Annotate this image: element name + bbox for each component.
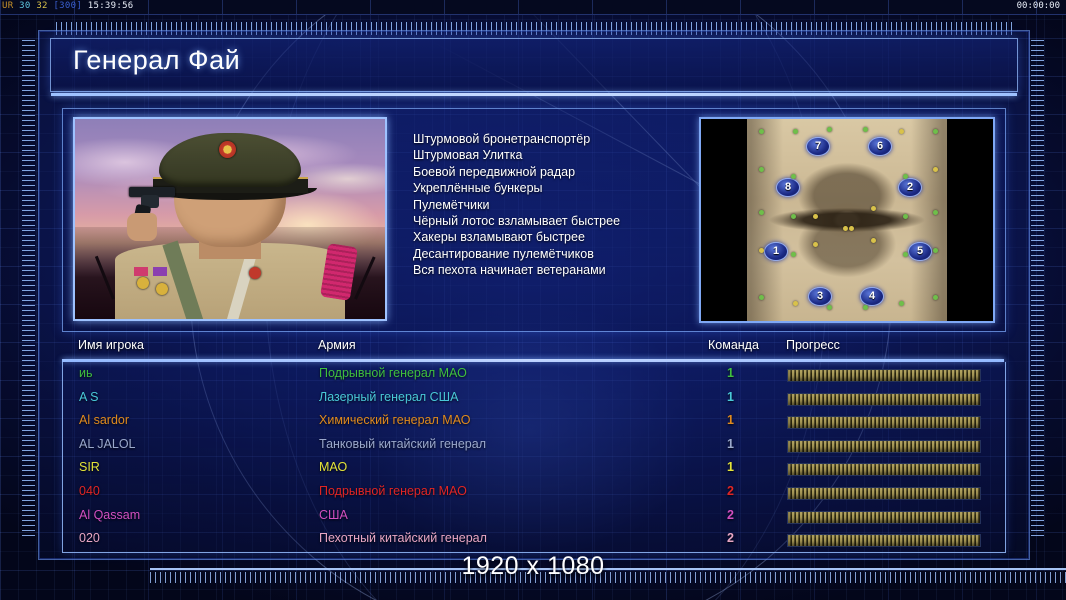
- minimap-resource-dot: [793, 301, 798, 306]
- minimap-resource-dot: [791, 252, 796, 257]
- title-underline: [51, 93, 1017, 96]
- hud-status-readout: UR 30 32 [300] 15:39:56: [2, 1, 134, 11]
- player-team: 2: [727, 484, 734, 498]
- minimap-resource-dot: [759, 210, 764, 215]
- player-table: Имя игрока Армия Команда Прогресс иьПодр…: [62, 338, 1004, 553]
- ability-item: Укреплённые бункеры: [413, 180, 713, 196]
- minimap-resource-dot: [933, 167, 938, 172]
- table-row[interactable]: SIRМАО1: [63, 457, 1005, 481]
- minimap-supply-dock: [843, 226, 848, 231]
- table-row[interactable]: 040Подрывной генерал МАО2: [63, 481, 1005, 505]
- player-army: Танковый китайский генерал: [319, 437, 486, 451]
- minimap-resource-dot: [933, 210, 938, 215]
- column-header-team: Команда: [708, 338, 759, 352]
- minimap-spawn-3[interactable]: 3: [808, 287, 832, 306]
- table-row[interactable]: Al QassamСША2: [63, 505, 1005, 529]
- player-progress-bar: [787, 463, 981, 476]
- player-name: иь: [79, 366, 93, 380]
- general-portrait: [73, 117, 387, 321]
- player-army: США: [319, 508, 348, 522]
- player-progress-fill: [788, 417, 980, 428]
- ruler-left: [22, 40, 35, 540]
- minimap-resource-dot: [827, 305, 832, 310]
- ability-item: Штурмовая Улитка: [413, 147, 713, 163]
- hud-value-2: 32: [36, 1, 47, 11]
- minimap-terrain: 76821534: [747, 119, 947, 321]
- player-name: 040: [79, 484, 100, 498]
- game-lobby-screen: UR 30 32 [300] 15:39:56 00:00:00 Генерал…: [0, 0, 1066, 600]
- table-row[interactable]: A SЛазерный генерал США1: [63, 387, 1005, 411]
- minimap-resource-dot: [759, 295, 764, 300]
- column-header-army: Армия: [318, 338, 356, 352]
- ruler-right: [1031, 40, 1044, 540]
- minimap-supply-dock: [871, 238, 876, 243]
- ability-item: Десантирование пулемётчиков: [413, 246, 713, 262]
- page-title: Генерал Фай: [73, 45, 240, 76]
- hud-clock: 15:39:56: [88, 1, 134, 11]
- minimap[interactable]: 76821534: [699, 117, 995, 323]
- portrait-revolver: [125, 183, 181, 243]
- player-progress-bar: [787, 416, 981, 429]
- minimap-resource-dot: [791, 174, 796, 179]
- table-row[interactable]: 020Пехотный китайский генерал2: [63, 528, 1005, 552]
- minimap-spawn-5[interactable]: 5: [908, 242, 932, 261]
- title-panel: Генерал Фай: [50, 38, 1018, 92]
- minimap-resource-dot: [863, 127, 868, 132]
- general-abilities-list: Штурмовой бронетранспортёр Штурмовая Ули…: [413, 131, 713, 279]
- minimap-supply-dock: [813, 242, 818, 247]
- column-header-progress: Прогресс: [786, 338, 840, 352]
- player-progress-bar: [787, 487, 981, 500]
- player-team: 1: [727, 460, 734, 474]
- minimap-resource-dot: [903, 252, 908, 257]
- player-team: 1: [727, 366, 734, 380]
- ability-item: Хакеры взламывают быстрее: [413, 229, 713, 245]
- portrait-cap-badge: [219, 141, 236, 158]
- minimap-spawn-1[interactable]: 1: [764, 242, 788, 261]
- table-row[interactable]: иьПодрывной генерал МАО1: [63, 363, 1005, 387]
- minimap-resource-dot: [903, 174, 908, 179]
- ability-item: Боевой передвижной радар: [413, 164, 713, 180]
- player-name: Al Qassam: [79, 508, 140, 522]
- minimap-resource-dot: [933, 295, 938, 300]
- player-progress-fill: [788, 394, 980, 405]
- minimap-resource-dot: [899, 301, 904, 306]
- hud-bracket-value: [300]: [53, 1, 82, 11]
- player-name: 020: [79, 531, 100, 545]
- minimap-supply-dock: [849, 226, 854, 231]
- minimap-spawn-4[interactable]: 4: [860, 287, 884, 306]
- ability-item: Пулемётчики: [413, 197, 713, 213]
- table-row[interactable]: AL JALOLТанковый китайский генерал1: [63, 434, 1005, 458]
- player-name: SIR: [79, 460, 100, 474]
- table-header-row: Имя игрока Армия Команда Прогресс: [62, 338, 1004, 360]
- player-name: AL JALOL: [79, 437, 136, 451]
- player-team: 1: [727, 413, 734, 427]
- ability-item: Вся пехота начинает ветеранами: [413, 262, 713, 278]
- player-progress-fill: [788, 535, 980, 546]
- player-progress-bar: [787, 534, 981, 547]
- hud-prefix: UR: [2, 1, 13, 11]
- hud-value-1: 30: [19, 1, 30, 11]
- player-army: Подрывной генерал МАО: [319, 484, 467, 498]
- player-team: 1: [727, 390, 734, 404]
- minimap-terrain-detail: [747, 119, 947, 321]
- minimap-supply-dock: [871, 206, 876, 211]
- ability-item: Чёрный лотос взламывает быстрее: [413, 213, 713, 229]
- table-row[interactable]: Al sardorХимический генерал МАО1: [63, 410, 1005, 434]
- minimap-resource-dot: [899, 129, 904, 134]
- table-body: иьПодрывной генерал МАО1A SЛазерный гене…: [62, 362, 1006, 553]
- player-army: МАО: [319, 460, 347, 474]
- minimap-resource-dot: [933, 129, 938, 134]
- minimap-spawn-2[interactable]: 2: [898, 178, 922, 197]
- minimap-resource-dot: [903, 214, 908, 219]
- hud-bar: UR 30 32 [300] 15:39:56 00:00:00: [0, 0, 1066, 15]
- player-army: Лазерный генерал США: [319, 390, 458, 404]
- player-team: 2: [727, 531, 734, 545]
- player-team: 2: [727, 508, 734, 522]
- minimap-resource-dot: [759, 129, 764, 134]
- minimap-spawn-6[interactable]: 6: [868, 137, 892, 156]
- minimap-supply-dock: [813, 214, 818, 219]
- player-name: Al sardor: [79, 413, 129, 427]
- player-progress-fill: [788, 512, 980, 523]
- player-progress-fill: [788, 464, 980, 475]
- player-progress-bar: [787, 369, 981, 382]
- minimap-spawn-8[interactable]: 8: [776, 178, 800, 197]
- player-progress-bar: [787, 440, 981, 453]
- ability-item: Штурмовой бронетранспортёр: [413, 131, 713, 147]
- player-progress-fill: [788, 370, 980, 381]
- player-name: A S: [79, 390, 98, 404]
- player-progress-fill: [788, 488, 980, 499]
- resolution-watermark: 1920 x 1080: [0, 552, 1066, 581]
- minimap-resource-dot: [793, 129, 798, 134]
- player-progress-bar: [787, 511, 981, 524]
- player-army: Подрывной генерал МАО: [319, 366, 467, 380]
- minimap-resource-dot: [759, 167, 764, 172]
- minimap-resource-dot: [863, 305, 868, 310]
- player-army: Химический генерал МАО: [319, 413, 470, 427]
- general-info-panel: Штурмовой бронетранспортёр Штурмовая Ули…: [62, 108, 1006, 332]
- player-team: 1: [727, 437, 734, 451]
- minimap-spawn-7[interactable]: 7: [806, 137, 830, 156]
- hud-timer: 00:00:00: [1017, 1, 1060, 11]
- player-army: Пехотный китайский генерал: [319, 531, 487, 545]
- player-progress-bar: [787, 393, 981, 406]
- minimap-resource-dot: [933, 248, 938, 253]
- minimap-resource-dot: [827, 127, 832, 132]
- minimap-resource-dot: [791, 214, 796, 219]
- hud-grid: [0, 0, 1066, 14]
- player-progress-fill: [788, 441, 980, 452]
- column-header-name: Имя игрока: [78, 338, 144, 352]
